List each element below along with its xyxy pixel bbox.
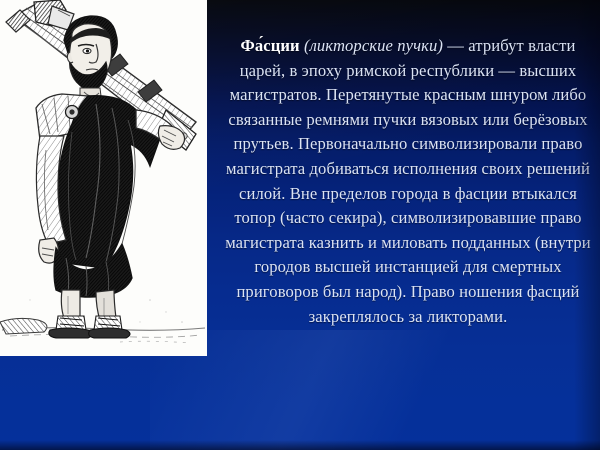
presentation-slide: Фа́сции (ликторские пучки) — атрибут вла… (0, 0, 600, 450)
background-sheen (150, 330, 570, 450)
slide-text-block: Фа́сции (ликторские пучки) — атрибут вла… (219, 34, 597, 329)
term-gloss: (ликторские пучки) (304, 36, 443, 55)
slide-paragraph: Фа́сции (ликторские пучки) — атрибут вла… (219, 34, 597, 329)
slide-body-text: — атрибут власти царей, в эпоху римской … (225, 36, 591, 326)
bottom-edge-vignette (0, 440, 600, 450)
roman-lictor-engraving (0, 0, 207, 356)
term-fasces: Фа́сции (241, 36, 300, 55)
